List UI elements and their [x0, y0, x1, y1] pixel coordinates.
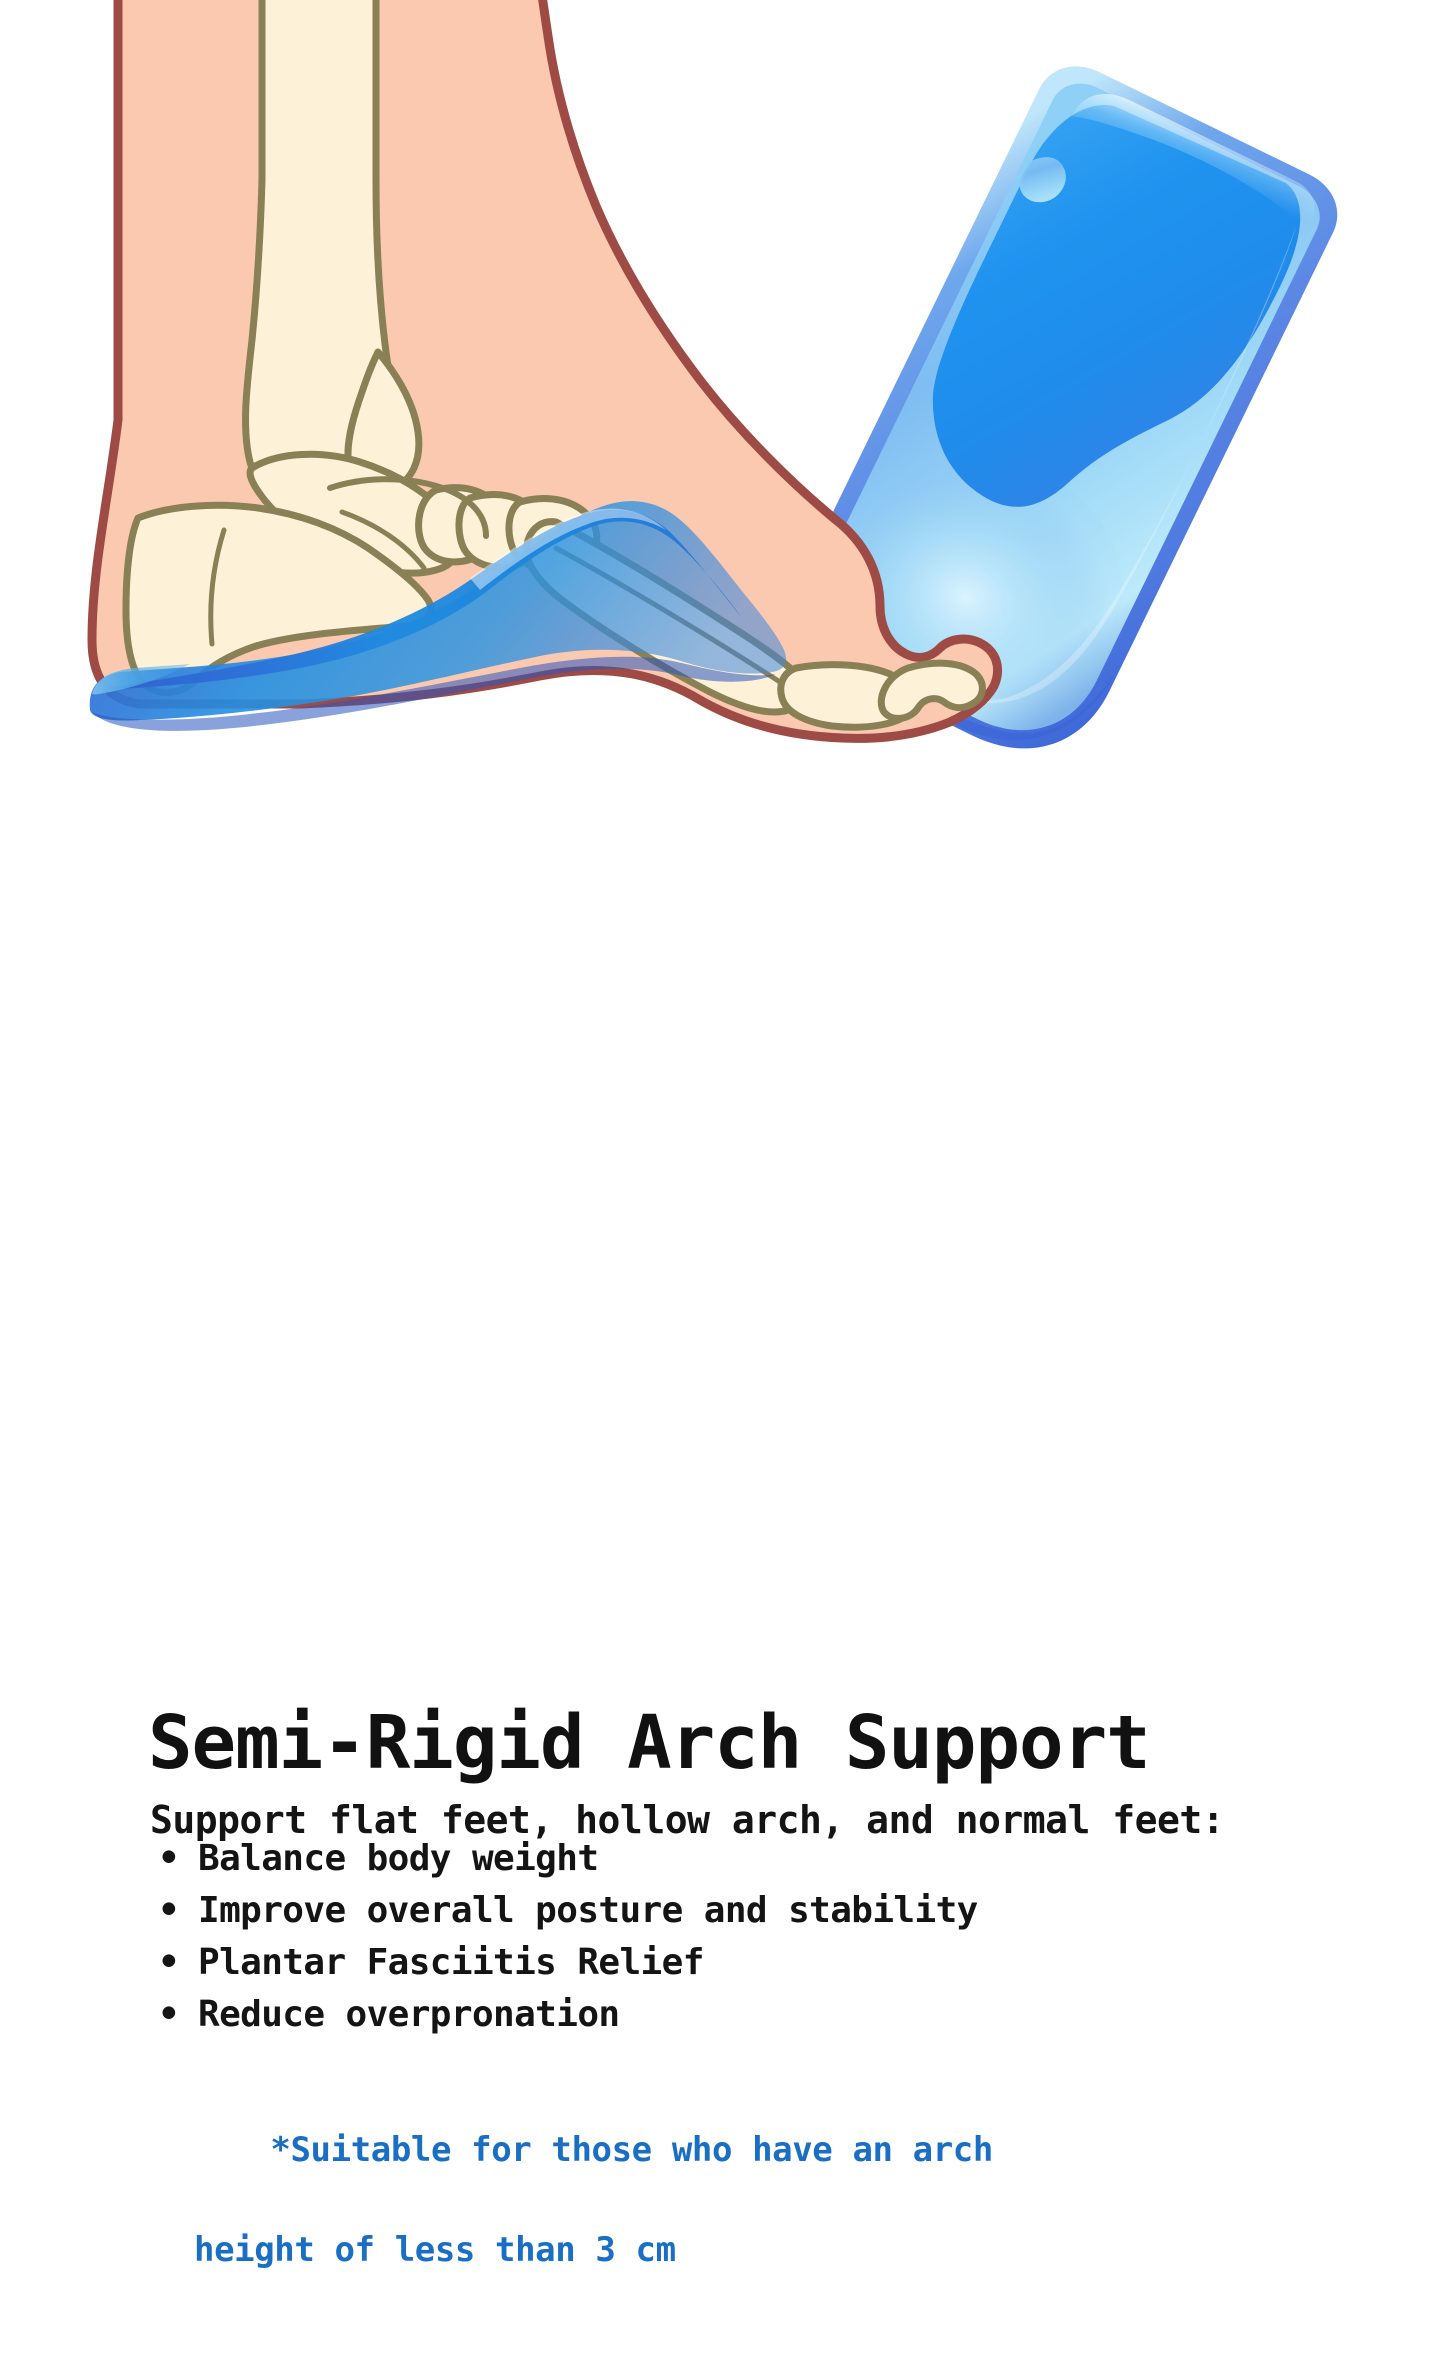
foot-lateral-cross-section [90, 0, 998, 738]
list-item-label: Reduce overpronation [198, 1994, 619, 2035]
footnote-line-1: *Suitable for those who have an arch [270, 2130, 993, 2170]
page-title: Semi-Rigid Arch Support [148, 1706, 1150, 1780]
list-item: • Improve overall posture and stability [150, 1890, 978, 1932]
footnote: *Suitable for those who have an arch hei… [150, 2075, 993, 2375]
list-item-label: Plantar Fasciitis Relief [198, 1942, 704, 1983]
bullet-icon: • [158, 1942, 179, 1984]
subtitle: Support flat feet, hollow arch, and norm… [150, 1798, 1224, 1844]
bullet-icon: • [158, 1838, 179, 1880]
list-item: • Reduce overpronation [150, 1994, 978, 2036]
benefits-list: • Balance body weight • Improve overall … [150, 1838, 978, 2046]
list-item-label: Improve overall posture and stability [198, 1890, 978, 1931]
foot-anatomy-illustration [0, 0, 1445, 820]
product-text-block: Semi-Rigid Arch Support Support flat fee… [0, 820, 1445, 1445]
list-item: • Balance body weight [150, 1838, 978, 1880]
bullet-icon: • [158, 1890, 179, 1932]
product-infographic: Semi-Rigid Arch Support Support flat fee… [0, 0, 1445, 1445]
bullet-icon: • [158, 1994, 179, 2036]
footnote-line-2: height of less than 3 cm [150, 2225, 993, 2275]
list-item: • Plantar Fasciitis Relief [150, 1942, 978, 1984]
list-item-label: Balance body weight [198, 1838, 598, 1879]
